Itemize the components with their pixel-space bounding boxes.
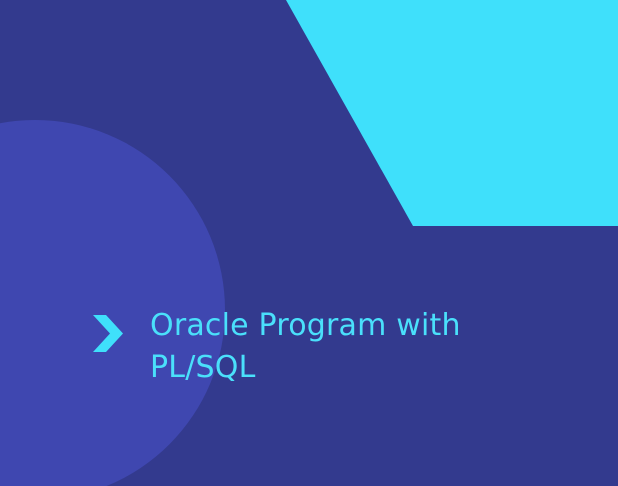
content-layer: Oracle Program with PL/SQL [0, 0, 618, 486]
title-block: Oracle Program with PL/SQL [93, 305, 563, 389]
slide-canvas: Oracle Program with PL/SQL [0, 0, 618, 486]
chevron-right-icon [93, 315, 123, 352]
page-title: Oracle Program with PL/SQL [150, 305, 563, 389]
